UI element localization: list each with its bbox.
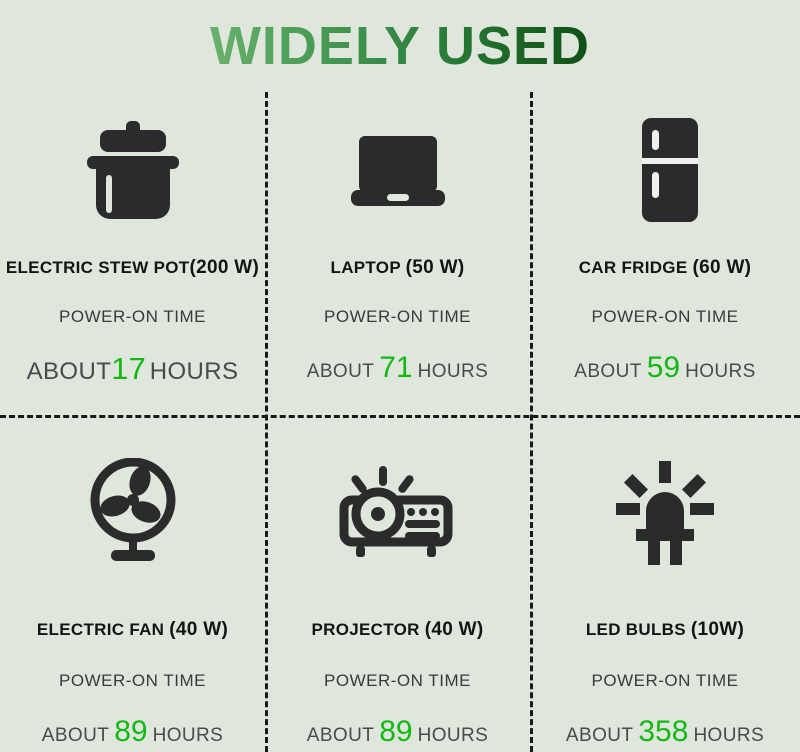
appliance-name: PROJECTOR (40 W) xyxy=(311,619,483,641)
projector-icon xyxy=(338,447,458,577)
power-on-time-label: POWER-ON TIME xyxy=(592,307,739,327)
appliance-name: CAR FRIDGE (60 W) xyxy=(579,257,752,279)
appliance-name: LAPTOP (50 W) xyxy=(331,257,465,279)
power-on-time-label: POWER-ON TIME xyxy=(59,307,206,327)
power-on-time-label: POWER-ON TIME xyxy=(592,671,739,691)
appliance-card-laptop[interactable]: LAPTOP (50 W) POWER-ON TIME ABOUT71HOURS xyxy=(265,92,530,415)
infographic-page: { "header": { "title": "WIDELY USED", "g… xyxy=(0,0,800,752)
about-word: ABOUT xyxy=(42,725,109,747)
power-on-time-label: POWER-ON TIME xyxy=(324,671,471,691)
appliance-wattage: (10W) xyxy=(691,619,744,640)
hours-word: HOURS xyxy=(153,725,224,747)
power-on-time-label: POWER-ON TIME xyxy=(59,671,206,691)
hours-value: 17 xyxy=(111,351,149,387)
stew-pot-icon xyxy=(78,110,188,230)
hours-word: HOURS xyxy=(418,725,489,747)
appliance-card-electric-stew-pot[interactable]: ELECTRIC STEW POT(200 W) POWER-ON TIME A… xyxy=(0,92,265,415)
appliance-wattage: (40 W) xyxy=(425,619,484,640)
appliance-card-car-fridge[interactable]: CAR FRIDGE (60 W) POWER-ON TIME ABOUT59H… xyxy=(530,92,800,415)
about-word: ABOUT xyxy=(307,361,374,383)
led-bulb-icon xyxy=(614,447,716,577)
appliance-grid: ELECTRIC STEW POT(200 W) POWER-ON TIME A… xyxy=(0,92,800,752)
hours-value: 358 xyxy=(633,715,693,749)
car-fridge-icon xyxy=(627,110,703,230)
appliance-card-electric-fan[interactable]: ELECTRIC FAN (40 W) POWER-ON TIME ABOUT8… xyxy=(0,415,265,752)
appliance-card-projector[interactable]: PROJECTOR (40 W) POWER-ON TIME ABOUT89HO… xyxy=(265,415,530,752)
hours-word: HOURS xyxy=(150,358,239,386)
appliance-wattage: (60 W) xyxy=(693,257,752,278)
laptop-icon xyxy=(345,110,451,230)
power-on-hours: ABOUT59HOURS xyxy=(574,351,755,385)
power-on-hours: ABOUT89HOURS xyxy=(42,715,223,749)
appliance-wattage: (40 W) xyxy=(169,619,228,640)
about-word: ABOUT xyxy=(574,361,641,383)
hours-value: 71 xyxy=(374,351,417,385)
appliance-name: LED BULBS (10W) xyxy=(586,619,744,641)
hours-word: HOURS xyxy=(685,361,756,383)
hours-value: 89 xyxy=(374,715,417,749)
power-on-hours: ABOUT89HOURS xyxy=(307,715,488,749)
appliance-wattage: (200 W) xyxy=(189,257,259,278)
power-on-hours: ABOUT358HOURS xyxy=(566,715,764,749)
page-title: WIDELY USED xyxy=(210,19,590,73)
about-word: ABOUT xyxy=(27,358,112,386)
power-on-hours: ABOUT71HOURS xyxy=(307,351,488,385)
electric-fan-icon xyxy=(83,447,183,577)
about-word: ABOUT xyxy=(307,725,374,747)
hours-value: 59 xyxy=(642,351,685,385)
hours-word: HOURS xyxy=(418,361,489,383)
hours-value: 89 xyxy=(109,715,152,749)
page-header: WIDELY USED xyxy=(0,0,800,92)
appliance-card-led-bulbs[interactable]: LED BULBS (10W) POWER-ON TIME ABOUT358HO… xyxy=(530,415,800,752)
power-on-time-label: POWER-ON TIME xyxy=(324,307,471,327)
power-on-hours: ABOUT17HOURS xyxy=(27,351,239,387)
hours-word: HOURS xyxy=(693,725,764,747)
appliance-wattage: (50 W) xyxy=(406,257,465,278)
about-word: ABOUT xyxy=(566,725,633,747)
appliance-name: ELECTRIC FAN (40 W) xyxy=(37,619,228,641)
appliance-name: ELECTRIC STEW POT(200 W) xyxy=(6,257,259,279)
